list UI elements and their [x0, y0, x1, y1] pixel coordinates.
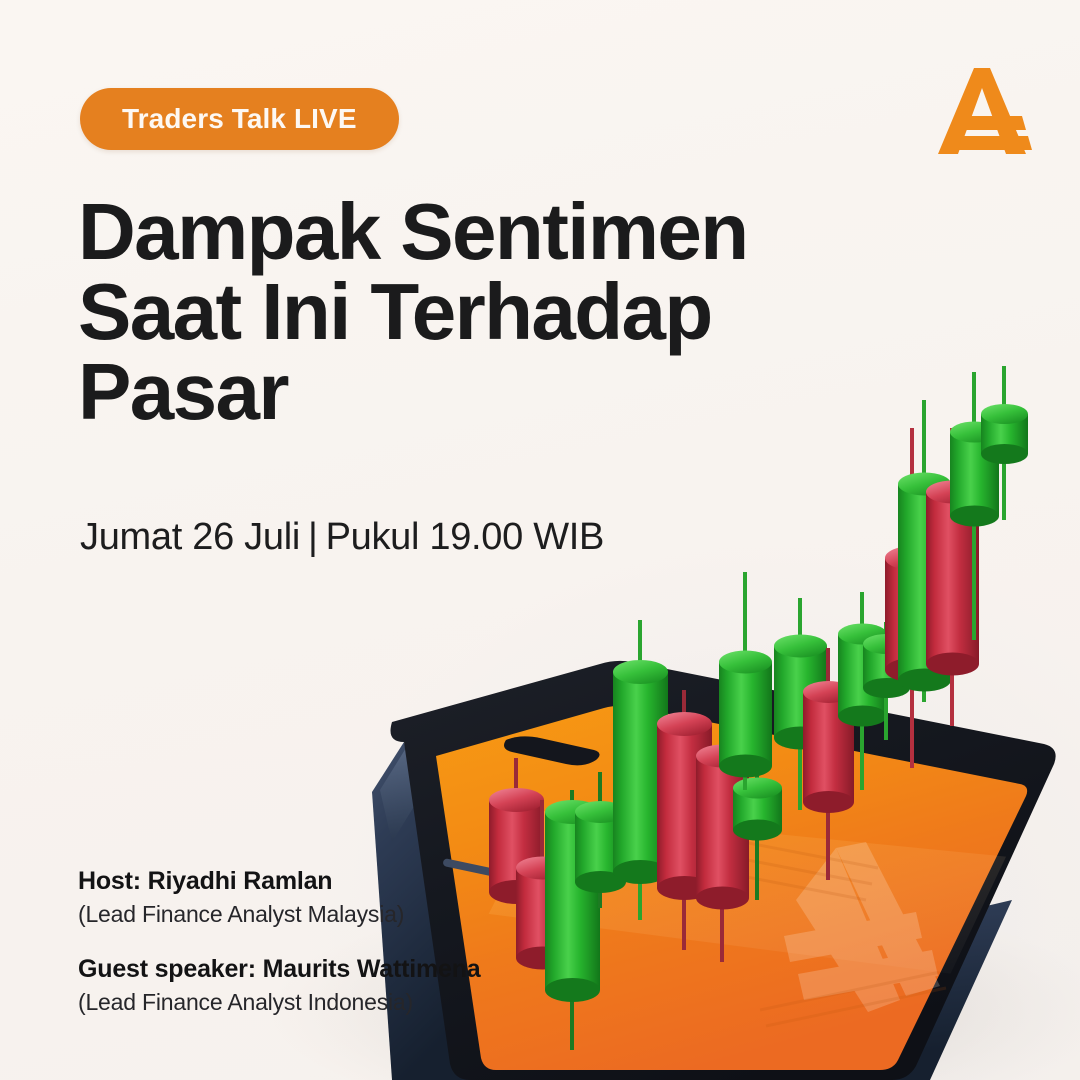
speaker-credits: Host: Riyadhi Ramlan (Lead Finance Analy… [78, 866, 598, 1018]
credit-guest-role: (Lead Finance Analyst Indonesia) [78, 988, 598, 1018]
credit-guest: Guest speaker: Maurits Wattimena (Lead F… [78, 954, 598, 1018]
credit-guest-name: Guest speaker: Maurits Wattimena [78, 954, 598, 985]
credit-host-role: (Lead Finance Analyst Malaysia) [78, 900, 598, 930]
credit-host: Host: Riyadhi Ramlan (Lead Finance Analy… [78, 866, 598, 930]
poster-canvas: Traders Talk LIVE Dampak Sentimen Saat I… [0, 0, 1080, 1080]
credit-host-name: Host: Riyadhi Ramlan [78, 866, 598, 897]
candle-9-bullish [719, 572, 772, 790]
